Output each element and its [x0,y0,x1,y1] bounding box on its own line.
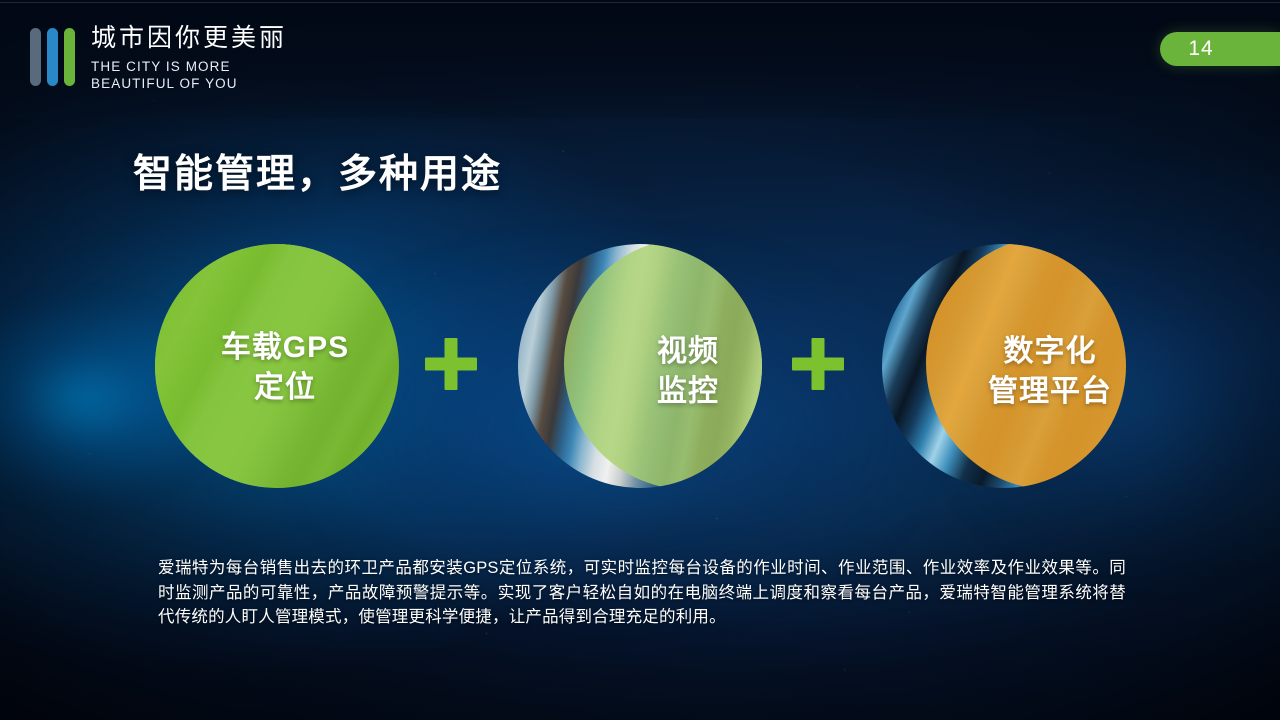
page-number-value: 14 [1188,37,1213,61]
body-paragraph: 爱瑞特为每台销售出去的环卫产品都安装GPS定位系统，可实时监控每台设备的作业时间… [158,556,1126,630]
brand-tagline-line2: BEAUTIFUL OF YOU [91,75,287,92]
brand-tagline-line1: THE CITY IS MORE [91,58,287,75]
concept-circle-video-label: 视频 监控 [566,250,762,488]
plus-icon-first [425,338,477,390]
brand-tagline-en: THE CITY IS MORE BEAUTIFUL OF YOU [91,58,287,92]
concept-circle-video[interactable]: 视频 监控 [518,244,762,488]
concept-label-line2: 管理平台 [988,372,1112,412]
concept-circle-gps-label: 车载GPS 定位 [163,246,399,488]
concept-label-line1: 视频 [657,332,719,372]
concept-label-line2: 监控 [657,372,719,412]
concept-diagram: 车载GPS 定位 视频 监控 数字化 管理平台 [0,244,1280,488]
top-hairline-divider [0,2,1280,3]
concept-label-line1: 车载GPS [221,328,349,368]
plus-icon-second [792,338,844,390]
presentation-slide: 城市因你更美丽 THE CITY IS MORE BEAUTIFUL OF YO… [0,0,1280,720]
concept-circle-digital[interactable]: 数字化 管理平台 [882,244,1126,488]
logo-bar-gray [30,28,41,86]
logo-bars-icon [30,28,75,86]
concept-label-line2: 定位 [254,368,316,408]
brand-text: 城市因你更美丽 THE CITY IS MORE BEAUTIFUL OF YO… [91,26,287,92]
logo-bar-blue [47,28,58,86]
body-paragraph-text: 爱瑞特为每台销售出去的环卫产品都安装GPS定位系统，可实时监控每台设备的作业时间… [158,556,1126,630]
logo-bar-green [64,28,75,86]
concept-circle-digital-label: 数字化 管理平台 [928,250,1126,488]
concept-label-line1: 数字化 [1004,332,1097,372]
brand-name-cn: 城市因你更美丽 [91,26,287,51]
page-number-badge: 14 [1160,32,1280,66]
page-title: 智能管理，多种用途 [133,143,502,199]
concept-circle-gps[interactable]: 车载GPS 定位 [155,244,399,488]
brand-logo: 城市因你更美丽 THE CITY IS MORE BEAUTIFUL OF YO… [30,26,287,92]
